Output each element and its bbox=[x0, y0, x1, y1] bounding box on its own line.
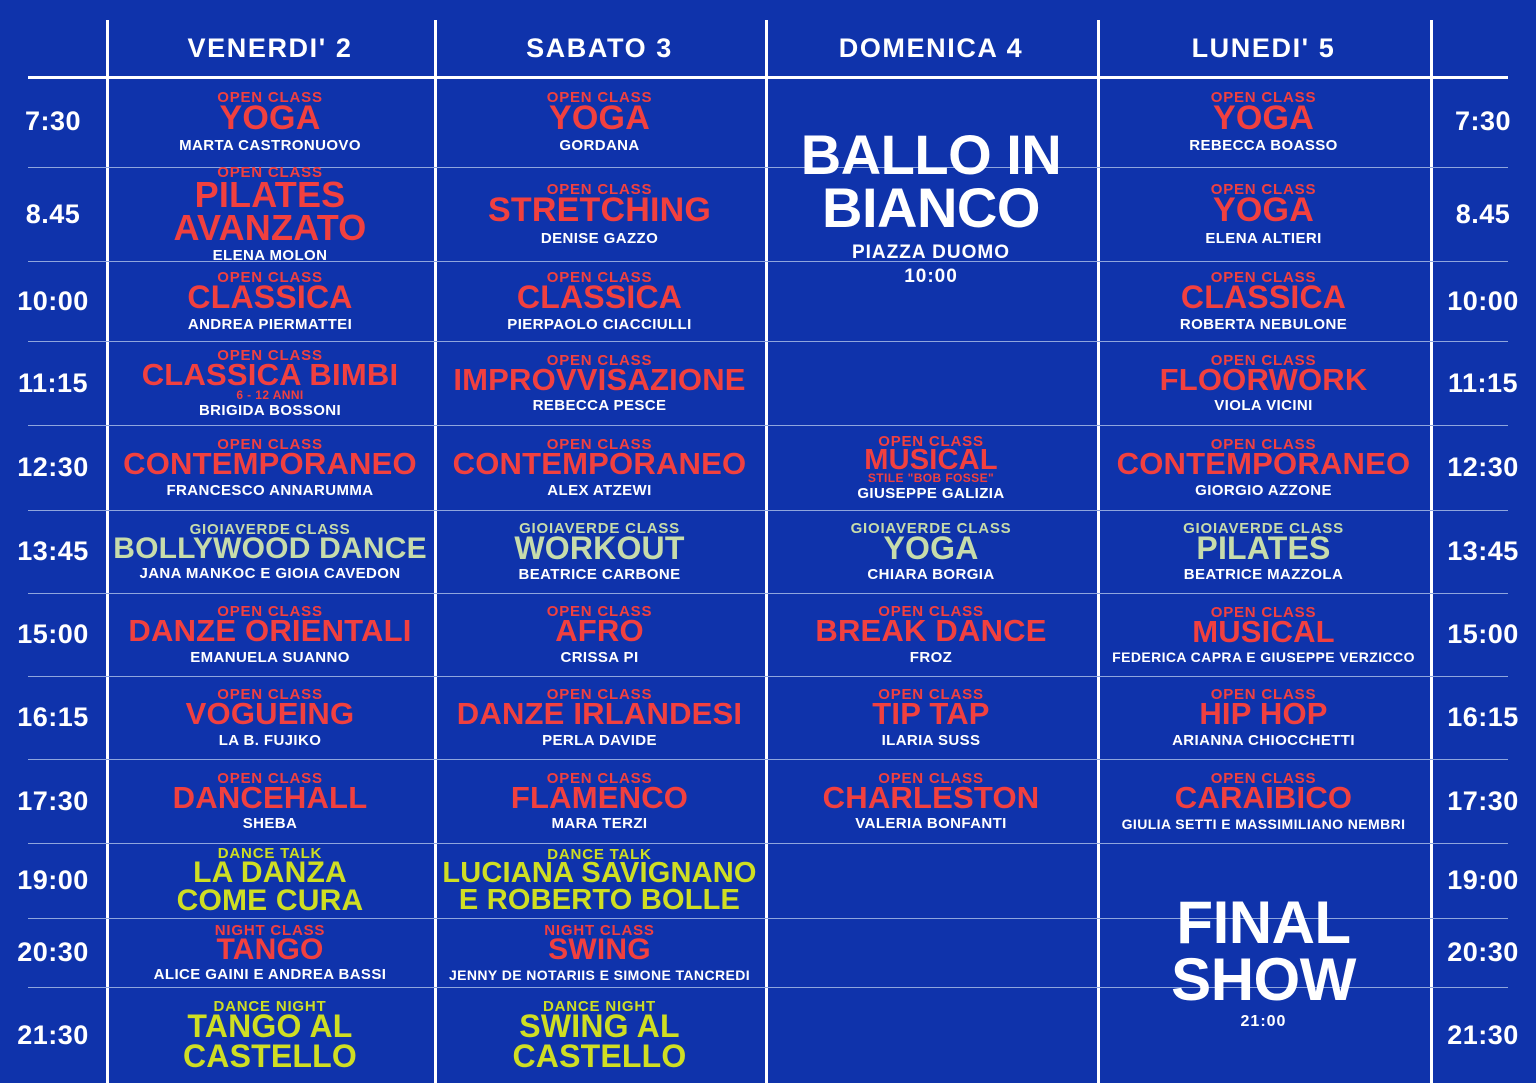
event-cell-r5c1[interactable]: GIOIAVERDE CLASS WORKOUT BEATRICE CARBON… bbox=[434, 510, 765, 593]
event-teacher: ILARIA SUSS bbox=[882, 733, 981, 748]
event-teacher: MARA TERZI bbox=[552, 816, 648, 831]
event-teacher: FEDERICA CAPRA E GIUSEPPE VERZICCO bbox=[1112, 650, 1415, 664]
time-label-right-3: 11:15 bbox=[1430, 341, 1536, 425]
event-teacher: ROBERTA NEBULONE bbox=[1180, 317, 1347, 332]
event-title: YOGA bbox=[883, 534, 978, 563]
event-cell-r2c1[interactable]: OPEN CLASS CLASSICA PIERPAOLO CIACCIULLI bbox=[434, 261, 765, 341]
event-cell-r8c0[interactable]: OPEN CLASS DANCEHALL SHEBA bbox=[106, 759, 434, 843]
event-cell-r6c3[interactable]: OPEN CLASS MUSICAL FEDERICA CAPRA E GIUS… bbox=[1097, 593, 1430, 676]
event-cell-r6c2[interactable]: OPEN CLASS BREAK DANCE FROZ bbox=[765, 593, 1097, 676]
event-title: VOGUEING bbox=[186, 700, 355, 729]
event-cell-r8c1[interactable]: OPEN CLASS FLAMENCO MARA TERZI bbox=[434, 759, 765, 843]
time-text: 17:30 bbox=[17, 786, 89, 817]
time-text: 10:00 bbox=[17, 286, 89, 317]
day-header-domenica: DOMENICA 4 bbox=[765, 20, 1097, 76]
event-cell-r5c2[interactable]: GIOIAVERDE CLASS YOGA CHIARA BORGIA bbox=[765, 510, 1097, 593]
time-text: 21:30 bbox=[17, 1020, 89, 1051]
time-text: 20:30 bbox=[1447, 937, 1519, 968]
time-label-right-1: 8.45 bbox=[1430, 167, 1536, 261]
day-header-lunedi: LUNEDI' 5 bbox=[1097, 20, 1430, 76]
event-cell-r1c3[interactable]: OPEN CLASS YOGA ELENA ALTIERI bbox=[1097, 167, 1430, 261]
time-label-right-10: 20:30 bbox=[1430, 918, 1536, 987]
event-cell-r5c0[interactable]: GIOIAVERDE CLASS BOLLYWOOD DANCE JANA MA… bbox=[106, 510, 434, 593]
day-header-venerdi: VENERDI' 2 bbox=[106, 20, 434, 76]
event-title: TANGO AL CASTELLO bbox=[145, 1012, 395, 1071]
event-title: CHARLESTON bbox=[823, 784, 1040, 813]
event-title: HIP HOP bbox=[1199, 700, 1327, 729]
event-teacher: ALICE GAINI E ANDREA BASSI bbox=[154, 967, 387, 982]
event-teacher: GIULIA SETTI E MASSIMILIANO NEMBRI bbox=[1122, 817, 1406, 831]
event-cell-r4c0[interactable]: OPEN CLASS CONTEMPORANEO FRANCESCO ANNAR… bbox=[106, 425, 434, 510]
event-teacher: VALERIA BONFANTI bbox=[855, 816, 1006, 831]
time-text: 12:30 bbox=[17, 452, 89, 483]
event-title: CONTEMPORANEO bbox=[453, 450, 747, 479]
event-teacher: GIUSEPPE GALIZIA bbox=[857, 486, 1004, 501]
time-text: 15:00 bbox=[1447, 619, 1519, 650]
time-label-left-1: 8.45 bbox=[0, 167, 106, 261]
event-cell-r6c0[interactable]: OPEN CLASS DANZE ORIENTALI EMANUELA SUAN… bbox=[106, 593, 434, 676]
final-show-time: 21:00 bbox=[1241, 1012, 1287, 1032]
event-title: FLAMENCO bbox=[511, 784, 688, 813]
event-teacher: BEATRICE MAZZOLA bbox=[1184, 567, 1343, 582]
event-subtitle: 6 - 12 ANNI bbox=[236, 389, 303, 401]
event-teacher: VIOLA VICINI bbox=[1214, 398, 1312, 413]
event-title: CLASSICA bbox=[1181, 283, 1346, 312]
time-label-left-7: 16:15 bbox=[0, 676, 106, 759]
time-text: 7:30 bbox=[1455, 106, 1511, 137]
event-teacher: ALEX ATZEWI bbox=[547, 483, 651, 498]
event-cell-r8c3[interactable]: OPEN CLASS CARAIBICO GIULIA SETTI E MASS… bbox=[1097, 759, 1430, 843]
event-cell-r4c2[interactable]: OPEN CLASS MUSICAL STILE "BOB FOSSE" GIU… bbox=[765, 425, 1097, 510]
event-title: SWING AL CASTELLO bbox=[475, 1012, 725, 1071]
event-title: CONTEMPORANEO bbox=[123, 450, 417, 479]
event-title: PILATES AVANZATO bbox=[155, 178, 385, 244]
time-label-left-11: 21:30 bbox=[0, 987, 106, 1083]
day-header-label: VENERDI' 2 bbox=[188, 33, 353, 64]
event-title: MUSICAL bbox=[864, 447, 998, 474]
event-cell-r0c0[interactable]: OPEN CLASS YOGA MARTA CASTRONUOVO bbox=[106, 76, 434, 167]
event-title: DANZE IRLANDESI bbox=[457, 700, 742, 729]
event-teacher: BRIGIDA BOSSONI bbox=[199, 403, 341, 418]
time-label-left-9: 19:00 bbox=[0, 843, 106, 918]
time-text: 19:00 bbox=[17, 865, 89, 896]
event-cell-r6c1[interactable]: OPEN CLASS AFRO CRISSA PI bbox=[434, 593, 765, 676]
time-label-right-8: 17:30 bbox=[1430, 759, 1536, 843]
day-header-label: SABATO 3 bbox=[526, 33, 673, 64]
event-teacher: PERLA DAVIDE bbox=[542, 733, 657, 748]
event-cell-r1c0[interactable]: OPEN CLASS PILATES AVANZATO ELENA MOLON bbox=[106, 167, 434, 261]
event-cell-r9c1[interactable]: DANCE TALK LUCIANA SAVIGNANO E ROBERTO B… bbox=[434, 843, 765, 918]
day-header-label: DOMENICA 4 bbox=[839, 33, 1024, 64]
event-title: BOLLYWOOD DANCE bbox=[113, 535, 427, 563]
event-teacher: FRANCESCO ANNARUMMA bbox=[166, 483, 373, 498]
event-title: SWING bbox=[548, 936, 651, 964]
event-title: DANZE ORIENTALI bbox=[128, 617, 411, 646]
event-title: CLASSICA bbox=[187, 283, 352, 312]
event-teacher: SHEBA bbox=[243, 816, 298, 831]
event-title: YOGA bbox=[220, 103, 321, 134]
event-teacher: BEATRICE CARBONE bbox=[519, 567, 681, 582]
event-cell-r3c1[interactable]: OPEN CLASS IMPROVVISAZIONE REBECCA PESCE bbox=[434, 341, 765, 425]
time-label-right-4: 12:30 bbox=[1430, 425, 1536, 510]
time-text: 8.45 bbox=[1456, 199, 1511, 230]
event-teacher: ELENA ALTIERI bbox=[1205, 231, 1321, 246]
time-text: 11:15 bbox=[18, 368, 88, 399]
event-title: IMPROVVISAZIONE bbox=[453, 366, 745, 395]
event-title: DANCEHALL bbox=[173, 784, 368, 813]
ballo-title: BALLO IN BIANCO bbox=[765, 128, 1097, 234]
event-title: PILATES bbox=[1196, 534, 1330, 563]
event-title: MUSICAL bbox=[1192, 618, 1335, 647]
event-title: CONTEMPORANEO bbox=[1117, 450, 1411, 479]
event-teacher: JANA MANKOC E GIOIA CAVEDON bbox=[139, 566, 400, 581]
event-cell-r3c3[interactable]: OPEN CLASS FLOORWORK VIOLA VICINI bbox=[1097, 341, 1430, 425]
event-cell-r11c0[interactable]: DANCE NIGHT TANGO AL CASTELLO bbox=[106, 987, 434, 1083]
event-teacher: ANDREA PIERMATTEI bbox=[188, 317, 352, 332]
time-text: 11:15 bbox=[1448, 368, 1518, 399]
event-cell-r4c3[interactable]: OPEN CLASS CONTEMPORANEO GIORGIO AZZONE bbox=[1097, 425, 1430, 510]
time-text: 21:30 bbox=[1447, 1020, 1519, 1051]
event-cell-r7c0[interactable]: OPEN CLASS VOGUEING LA B. FUJIKO bbox=[106, 676, 434, 759]
event-cell-r5c3[interactable]: GIOIAVERDE CLASS PILATES BEATRICE MAZZOL… bbox=[1097, 510, 1430, 593]
event-cell-r10c0[interactable]: NIGHT CLASS TANGO ALICE GAINI E ANDREA B… bbox=[106, 918, 434, 987]
event-title: STRETCHING bbox=[488, 195, 711, 226]
event-cell-r0c3[interactable]: OPEN CLASS YOGA REBECCA BOASSO bbox=[1097, 76, 1430, 167]
event-teacher: CHIARA BORGIA bbox=[867, 567, 994, 582]
event-cell-r0c1[interactable]: OPEN CLASS YOGA GORDANA bbox=[434, 76, 765, 167]
event-final-show[interactable]: FINAL SHOW 21:00 bbox=[1097, 843, 1430, 1083]
time-text: 17:30 bbox=[1447, 786, 1519, 817]
event-cell-r2c3[interactable]: OPEN CLASS CLASSICA ROBERTA NEBULONE bbox=[1097, 261, 1430, 341]
event-title: LA DANZA COME CURA bbox=[163, 859, 378, 914]
time-text: 7:30 bbox=[25, 106, 81, 137]
time-label-right-9: 19:00 bbox=[1430, 843, 1536, 918]
time-text: 12:30 bbox=[1447, 452, 1519, 483]
class-schedule-table: VENERDI' 2 SABATO 3 DOMENICA 4 LUNEDI' 5… bbox=[0, 0, 1536, 1083]
time-label-left-3: 11:15 bbox=[0, 341, 106, 425]
event-teacher: GIORGIO AZZONE bbox=[1195, 483, 1332, 498]
day-header-sabato: SABATO 3 bbox=[434, 20, 765, 76]
event-teacher: REBECCA PESCE bbox=[533, 398, 667, 413]
event-title: LUCIANA SAVIGNANO E ROBERTO BOLLE bbox=[440, 860, 759, 913]
time-text: 10:00 bbox=[1447, 286, 1519, 317]
event-teacher: PIERPAOLO CIACCIULLI bbox=[507, 317, 691, 332]
event-cell-r2c0[interactable]: OPEN CLASS CLASSICA ANDREA PIERMATTEI bbox=[106, 261, 434, 341]
time-label-left-6: 15:00 bbox=[0, 593, 106, 676]
time-text: 15:00 bbox=[17, 619, 89, 650]
event-cell-r7c3[interactable]: OPEN CLASS HIP HOP ARIANNA CHIOCCHETTI bbox=[1097, 676, 1430, 759]
event-cell-r4c1[interactable]: OPEN CLASS CONTEMPORANEO ALEX ATZEWI bbox=[434, 425, 765, 510]
event-title: CARAIBICO bbox=[1175, 784, 1352, 813]
event-title: TANGO bbox=[216, 936, 323, 964]
ballo-time: 10:00 bbox=[904, 265, 958, 289]
event-cell-r11c1[interactable]: DANCE NIGHT SWING AL CASTELLO bbox=[434, 987, 765, 1083]
time-label-left-10: 20:30 bbox=[0, 918, 106, 987]
event-title: YOGA bbox=[1213, 103, 1314, 134]
event-cell-r7c2[interactable]: OPEN CLASS TIP TAP ILARIA SUSS bbox=[765, 676, 1097, 759]
event-title: YOGA bbox=[1213, 195, 1314, 226]
event-title: YOGA bbox=[549, 103, 650, 134]
event-cell-r1c1[interactable]: OPEN CLASS STRETCHING DENISE GAZZO bbox=[434, 167, 765, 261]
event-teacher: FROZ bbox=[910, 650, 952, 665]
event-title: FLOORWORK bbox=[1160, 366, 1368, 395]
event-teacher: EMANUELA SUANNO bbox=[190, 650, 350, 665]
event-teacher: ARIANNA CHIOCCHETTI bbox=[1172, 733, 1355, 748]
time-label-right-5: 13:45 bbox=[1430, 510, 1536, 593]
event-teacher: CRISSA PI bbox=[560, 650, 638, 665]
event-cell-r7c1[interactable]: OPEN CLASS DANZE IRLANDESI PERLA DAVIDE bbox=[434, 676, 765, 759]
time-label-left-2: 10:00 bbox=[0, 261, 106, 341]
time-text: 8.45 bbox=[26, 199, 81, 230]
final-show-title: FINAL SHOW bbox=[1097, 894, 1430, 1008]
day-header-label: LUNEDI' 5 bbox=[1192, 33, 1336, 64]
time-text: 13:45 bbox=[1447, 536, 1519, 567]
event-cell-r3c0[interactable]: OPEN CLASS CLASSICA BIMBI 6 - 12 ANNI BR… bbox=[106, 341, 434, 425]
time-label-left-8: 17:30 bbox=[0, 759, 106, 843]
event-teacher: JENNY DE NOTARIIS E SIMONE TANCREDI bbox=[449, 968, 750, 982]
time-label-left-4: 12:30 bbox=[0, 425, 106, 510]
event-subtitle: STILE "BOB FOSSE" bbox=[868, 472, 994, 484]
time-text: 20:30 bbox=[17, 937, 89, 968]
time-label-left-0: 7:30 bbox=[0, 76, 106, 167]
event-teacher: MARTA CASTRONUOVO bbox=[179, 138, 361, 153]
event-title: CLASSICA bbox=[517, 283, 682, 312]
event-title: AFRO bbox=[555, 617, 644, 646]
event-ballo-in-bianco[interactable]: BALLO IN BIANCO PIAZZA DUOMO 10:00 bbox=[765, 76, 1097, 341]
event-title: CLASSICA BIMBI bbox=[142, 361, 399, 390]
event-teacher: GORDANA bbox=[559, 138, 639, 153]
event-title: WORKOUT bbox=[514, 534, 684, 563]
time-text: 16:15 bbox=[17, 702, 89, 733]
event-teacher: DENISE GAZZO bbox=[541, 231, 658, 246]
event-teacher: LA B. FUJIKO bbox=[219, 733, 322, 748]
event-title: TIP TAP bbox=[872, 700, 989, 729]
time-label-left-5: 13:45 bbox=[0, 510, 106, 593]
time-text: 19:00 bbox=[1447, 865, 1519, 896]
time-label-right-2: 10:00 bbox=[1430, 261, 1536, 341]
time-label-right-7: 16:15 bbox=[1430, 676, 1536, 759]
time-text: 13:45 bbox=[17, 536, 89, 567]
event-title: BREAK DANCE bbox=[815, 617, 1046, 646]
event-cell-r9c0[interactable]: DANCE TALK LA DANZA COME CURA bbox=[106, 843, 434, 918]
time-label-right-6: 15:00 bbox=[1430, 593, 1536, 676]
time-text: 16:15 bbox=[1447, 702, 1519, 733]
event-teacher: REBECCA BOASSO bbox=[1189, 138, 1337, 153]
event-cell-r10c1[interactable]: NIGHT CLASS SWING JENNY DE NOTARIIS E SI… bbox=[434, 918, 765, 987]
event-cell-r8c2[interactable]: OPEN CLASS CHARLESTON VALERIA BONFANTI bbox=[765, 759, 1097, 843]
time-label-right-0: 7:30 bbox=[1430, 76, 1536, 167]
time-label-right-11: 21:30 bbox=[1430, 987, 1536, 1083]
ballo-place: PIAZZA DUOMO bbox=[852, 241, 1010, 265]
